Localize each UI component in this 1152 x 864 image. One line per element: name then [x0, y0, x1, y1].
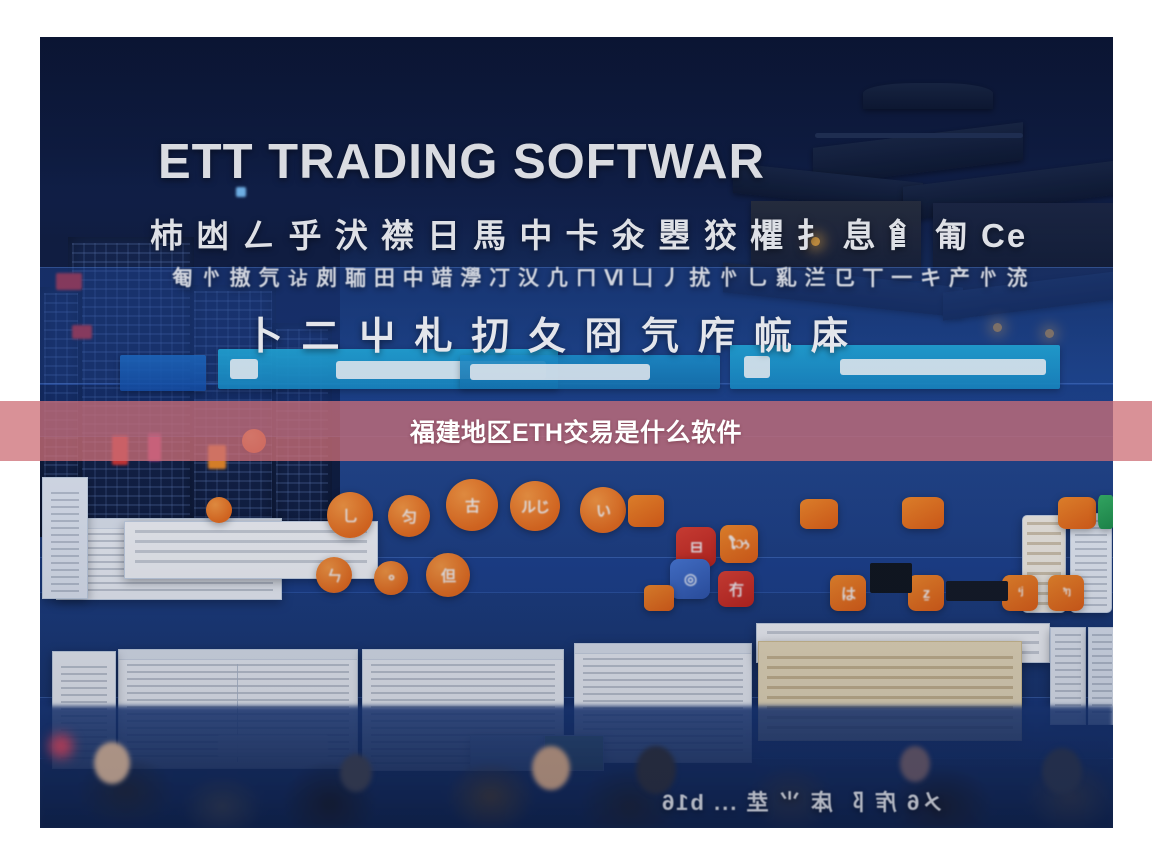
- app-icon-orange: 匀: [388, 495, 430, 537]
- page-root: 乚 匀 古 ルじ い ㄣ ⚬ 但 ⊟ ໂઝ ◎: [0, 0, 1152, 864]
- app-icon-green: [1098, 495, 1113, 529]
- ui-pill: [840, 359, 1046, 375]
- app-icon-orange: ⚬: [374, 561, 408, 595]
- ui-pill: [230, 359, 258, 379]
- app-icon-glyph: 乚: [327, 492, 373, 538]
- app-icon-glyph: 古: [446, 479, 498, 531]
- app-icon-red: 冇: [718, 571, 754, 607]
- app-icon-glyph: ໂઝ: [720, 525, 758, 563]
- app-icon-orange: ㄣ: [316, 557, 352, 593]
- app-icon-glyph: ㄣ: [316, 557, 352, 593]
- app-icon-orange: い: [580, 487, 626, 533]
- app-icon-orange: [644, 585, 674, 611]
- app-icon-orange: [902, 497, 944, 529]
- ui-pill: [470, 364, 650, 380]
- app-icon-glyph: は: [830, 575, 866, 611]
- app-icon-orange: [206, 497, 232, 523]
- app-icon-orange: [628, 495, 664, 527]
- app-window-card: [42, 477, 88, 599]
- article-title-banner: 福建地区ETH交易是什么软件: [0, 401, 1152, 461]
- pagoda-eave: [863, 83, 993, 109]
- ui-banner-cyan: [120, 355, 206, 391]
- app-icon-orange: ルじ: [510, 481, 560, 531]
- app-icon-glyph: ẕ: [908, 575, 944, 611]
- hero-subtitle-secondary: 匎 㣺 𢳆 氕 𧮪 㓟 聏 田 中 䇎 㶅 㓅 㲼 凣 ㄇ Ⅵ 凵 丿 扰 㣺 …: [172, 262, 1029, 292]
- text-lines: [51, 492, 79, 592]
- app-icon-orange: 乚: [327, 492, 373, 538]
- window-titlebar: [363, 650, 563, 660]
- app-icon-glyph: ⚬: [374, 561, 408, 595]
- app-icon-glyph: い: [580, 487, 626, 533]
- app-icon-orange: ໂઝ: [720, 525, 758, 563]
- person-face: [49, 734, 73, 758]
- hero-subtitle-tertiary: 卜 二 屮 札 㧅 夂 冏 氕 㡸 㡆 㡷: [245, 305, 853, 360]
- app-icon-glyph: 冇: [718, 571, 754, 607]
- hero-headline: ETT TRADING SOFTWAR: [158, 134, 765, 190]
- ui-banner-cyan: [460, 355, 720, 389]
- person-face: [1042, 748, 1082, 794]
- app-icon-orange: は: [830, 575, 866, 611]
- app-icon-orange: ʼᵑ: [1048, 575, 1084, 611]
- app-icon-blue: ◎: [670, 559, 710, 599]
- app-icon-orange: 但: [426, 553, 470, 597]
- badge-dark: [870, 563, 912, 593]
- badge-dark: [946, 581, 1008, 601]
- app-icon-glyph: 匀: [388, 495, 430, 537]
- page-title: 福建地区ETH交易是什么软件: [410, 413, 742, 449]
- crowd-of-people: [40, 706, 1113, 828]
- app-icon-orange: 古: [446, 479, 498, 531]
- hero-subtitle-primary: 杮 凼 𠃋 乎 汱 襟 日 馬 中 卡 氽 瞾 狡 欋 扌 息 𩙿 匍 Ce: [150, 209, 1027, 257]
- app-icon-glyph: ◎: [670, 559, 710, 599]
- app-icon-glyph: ルじ: [510, 481, 560, 531]
- pagoda-ridge: [815, 133, 1023, 138]
- person-face: [900, 746, 930, 782]
- person-face: [340, 754, 372, 792]
- hero-footnote-text: 㐅6 㡸 阝 㡷 ⺌ 坓 ... b16: [660, 785, 943, 817]
- person-face: [94, 742, 130, 784]
- app-icon-orange: ẕ: [908, 575, 944, 611]
- app-icon-glyph: 但: [426, 553, 470, 597]
- window-titlebar: [575, 644, 751, 654]
- window-titlebar: [119, 650, 357, 660]
- person-face: [532, 746, 570, 790]
- app-icon-orange: [1058, 497, 1096, 529]
- app-icon-glyph: ʼᵑ: [1048, 575, 1084, 611]
- app-icon-orange: [800, 499, 838, 529]
